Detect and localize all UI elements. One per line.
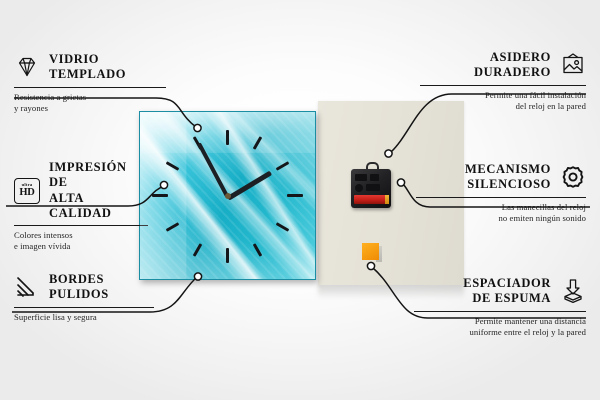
callout-connector-lines xyxy=(0,0,600,400)
connector-asidero xyxy=(391,94,586,152)
connector-dot-bordes xyxy=(194,273,201,280)
connector-mecanismo xyxy=(402,183,590,207)
connector-vidrio-templado xyxy=(14,98,196,127)
connector-espaciador xyxy=(373,268,586,318)
connector-dot-espaciador xyxy=(367,262,374,269)
connector-dot-asidero xyxy=(385,150,392,157)
product-infographic: VIDRIO TEMPLADO Resistencia a grietas y … xyxy=(0,0,600,400)
connector-dot-impresion xyxy=(160,181,167,188)
connector-impresion xyxy=(6,186,164,206)
connector-bordes xyxy=(12,277,197,312)
connector-dot-vidrio-templado xyxy=(194,124,201,131)
connector-dot-mecanismo xyxy=(397,179,404,186)
